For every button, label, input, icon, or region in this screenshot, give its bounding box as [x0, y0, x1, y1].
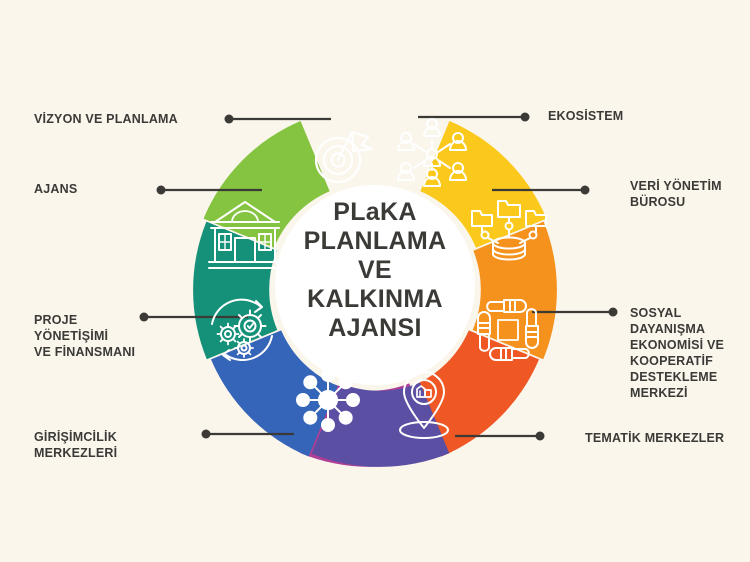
connector-dot-sosyal: [609, 308, 618, 317]
center-hub: [275, 185, 475, 385]
label-girisimcilik-merkezleri[interactable]: GİRİŞİMCİLİK MERKEZLERİ: [34, 429, 224, 461]
wheel-svg: [0, 0, 750, 562]
label-tematik-merkezler[interactable]: TEMATİK MERKEZLER: [585, 430, 750, 446]
connector-dot-ekosistem: [521, 113, 530, 122]
radial-nodes-icon: [297, 369, 359, 431]
label-vizyon-ve-planlama[interactable]: VİZYON VE PLANLAMA: [34, 111, 244, 127]
label-ekosistem[interactable]: EKOSİSTEM: [548, 108, 738, 124]
label-sosyal-dayanisma[interactable]: SOSYAL DAYANIŞMA EKONOMİSİ VE KOOPERATİF…: [630, 305, 750, 401]
label-proje-yonetisimi-ve-finansmani[interactable]: PROJE YÖNETİŞİMİ VE FİNANSMANI: [34, 312, 224, 360]
label-ajans[interactable]: AJANS: [34, 181, 194, 197]
connector-dot-veri: [581, 186, 590, 195]
target-flag-icon: [316, 132, 372, 182]
label-veri-yonetim-burosu[interactable]: VERİ YÖNETİM BÜROSU: [630, 178, 750, 210]
connector-dot-tematik: [536, 432, 545, 441]
infographic-wheel-diagram: PLaKA PLANLAMA VE KALKINMA AJANSI VİZYON…: [0, 0, 750, 562]
